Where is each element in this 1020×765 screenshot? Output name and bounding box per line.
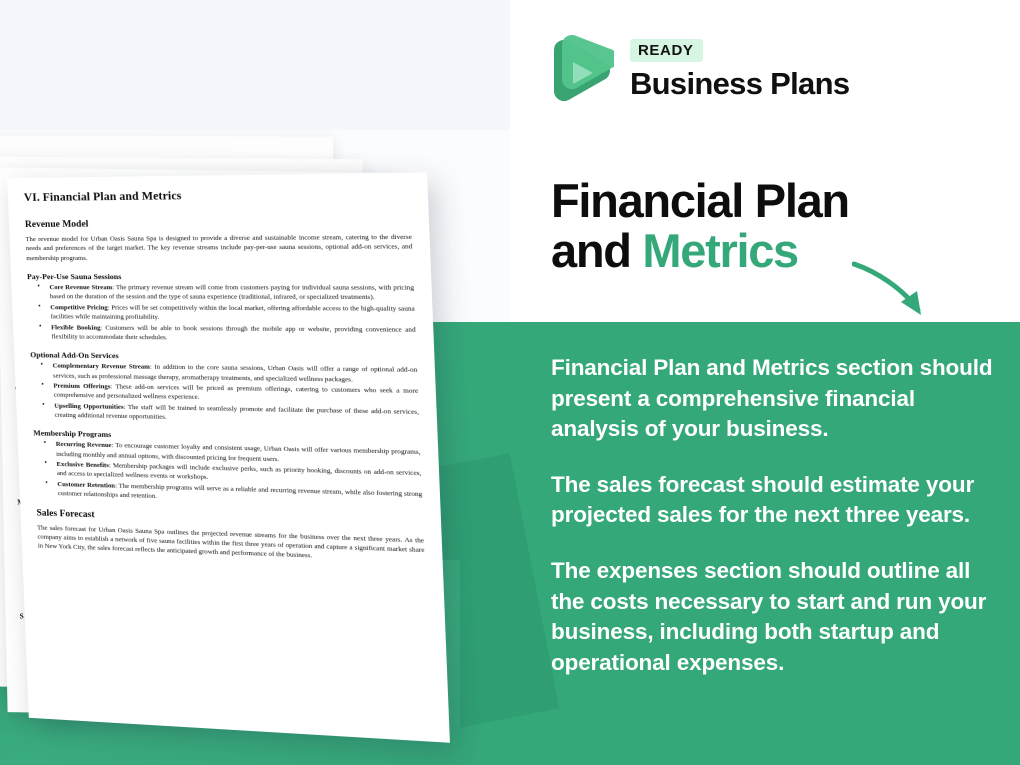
document-title: VI. Financial Plan and Metrics [24, 187, 411, 204]
headline-line-1: Financial Plan [551, 174, 849, 227]
document-bullet: Competitive Pricing: Prices will be set … [28, 303, 415, 324]
bullet-term: Core Revenue Stream [49, 284, 112, 291]
bullet-term: Competitive Pricing [50, 304, 108, 311]
document-subheading-pay-per-use: Pay-Per-Use Sauna Sessions [27, 272, 414, 281]
bullet-term: Recurring Revenue [56, 441, 112, 449]
bullet-text: : To encourage customer loyalty and cons… [56, 442, 421, 463]
double-play-triangle-logo-icon [548, 34, 614, 106]
document-bullet-list-pay-per-use: Core Revenue Stream: The primary revenue… [27, 283, 416, 344]
bullet-term: Exclusive Benefits [56, 461, 109, 469]
bullet-term: Flexible Booking [51, 324, 101, 331]
document-heading-revenue-model: Revenue Model [25, 217, 412, 230]
document-bullet: Flexible Booking: Customers will be able… [29, 323, 416, 345]
headline-line-2-prefix: and [551, 224, 642, 277]
slide-canvas: VI. Re The inc stre Pay Op M S VI. Finan… [0, 0, 1020, 765]
panel-paragraph-3: The expenses section should outline all … [551, 556, 999, 678]
panel-paragraph-2: The sales forecast should estimate your … [551, 470, 999, 531]
bullet-text: : Customers will be able to book session… [51, 324, 415, 341]
document-paragraph-sales-forecast: The sales forecast for Urban Oasis Sauna… [37, 523, 425, 565]
document-stack: VI. Re The inc stre Pay Op M S VI. Finan… [0, 130, 460, 690]
bullet-term: Premium Offerings [53, 383, 110, 391]
brand-name: Business Plans [630, 66, 849, 102]
panel-body-copy: Financial Plan and Metrics section shoul… [551, 353, 999, 678]
ready-badge: READY [630, 39, 703, 62]
bullet-term: Upselling Opportunities [54, 402, 124, 410]
page-title: Financial Plan and Metrics [551, 176, 981, 277]
document-bullet-list-optional-addon: Complementary Revenue Stream: In additio… [30, 361, 419, 427]
document-paragraph-revenue-model: The revenue model for Urban Oasis Sauna … [25, 233, 413, 264]
brand-text-block: READY Business Plans [630, 39, 849, 102]
document-bullet: Core Revenue Stream: The primary revenue… [27, 283, 414, 303]
document-page-front: VI. Financial Plan and Metrics Revenue M… [7, 172, 450, 742]
bullet-term: Customer Retention [57, 481, 115, 490]
panel-paragraph-1: Financial Plan and Metrics section shoul… [551, 353, 999, 445]
document-bullet-list-membership: Recurring Revenue: To encourage customer… [34, 440, 423, 510]
headline-line-2-accent: Metrics [642, 224, 797, 277]
brand-lockup: READY Business Plans [548, 34, 849, 106]
bullet-term: Complementary Revenue Stream [53, 363, 150, 371]
